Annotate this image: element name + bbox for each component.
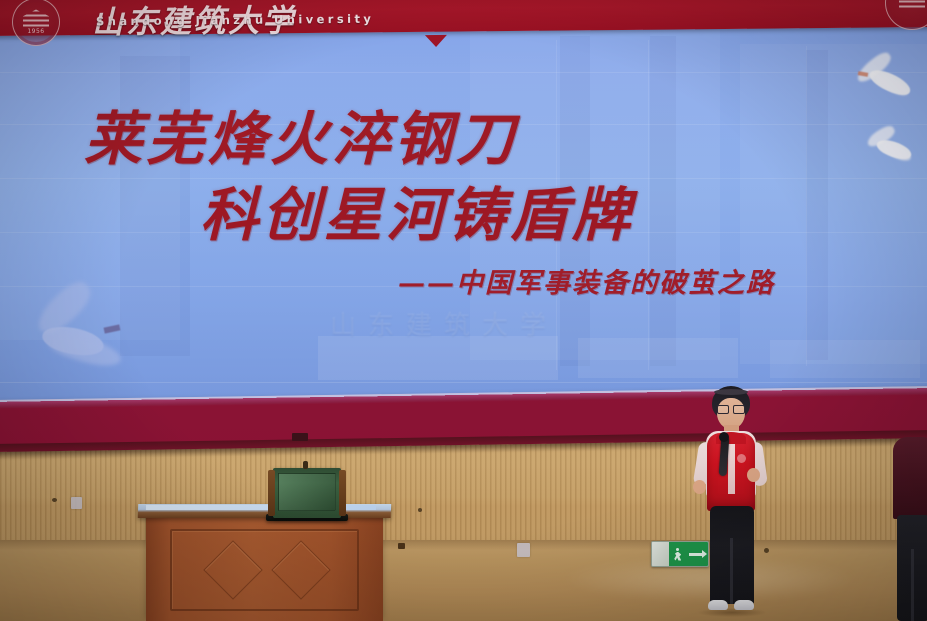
monitor-display [278, 473, 336, 511]
monitor-knob [303, 461, 308, 469]
speaker-right-hand [747, 468, 760, 482]
trouser-seam [730, 538, 733, 604]
fascia-clip [292, 433, 308, 441]
lectern-front-panel [170, 529, 359, 611]
background-building [650, 36, 676, 366]
slide-title-line-2: 科创星河铸盾牌 [200, 168, 634, 252]
microphone-head [719, 432, 729, 442]
university-name-en: Shandong Jianzhu University [96, 12, 374, 29]
bystander-torso [893, 437, 927, 519]
speaker-left-hand [693, 480, 706, 494]
running-person-icon [674, 548, 682, 561]
lecture-stage-photo: 山东建筑大学 莱芜烽火淬钢刀 科创星河铸盾牌 ——中国军事装备的破茧之路 山东建… [0, 0, 927, 621]
dove-beak [104, 324, 121, 333]
speaker-vest-opening [728, 436, 735, 494]
wall-plate [71, 497, 82, 509]
background-building [770, 340, 920, 378]
lectern [146, 513, 383, 621]
dove-icon-top-right [846, 58, 924, 106]
wall-mark [418, 508, 422, 512]
university-seal-left-icon: 1956 [12, 0, 60, 46]
lectern-monitor [273, 468, 341, 518]
background-building [806, 50, 828, 360]
seal-building-motif [899, 0, 925, 15]
vest-logo [737, 454, 746, 463]
monitor-side-bracket [339, 470, 346, 516]
background-building [318, 336, 558, 380]
bystander-person [893, 437, 927, 621]
bystander-leg-seam [911, 549, 914, 621]
dove-icon-lower-left [8, 292, 130, 396]
lectern-diamond-motif [271, 540, 330, 599]
glasses-icon [717, 405, 745, 412]
wall-mark [398, 543, 405, 549]
exit-sign-bracket [652, 542, 669, 566]
speaker-shoe [734, 600, 754, 610]
slide-title-line-1: 莱芜烽火淬钢刀 [84, 92, 518, 176]
facade-line [0, 72, 927, 73]
speaker-hairband [714, 389, 748, 395]
projection-screen: 山东建筑大学 莱芜烽火淬钢刀 科创星河铸盾牌 ——中国军事装备的破茧之路 山东建… [0, 0, 927, 438]
background-building [578, 338, 738, 378]
facade-line [648, 40, 649, 370]
facade-line [806, 46, 807, 366]
speaker-shoe [708, 600, 728, 610]
dove-icon-right-mid [858, 128, 922, 172]
speaker-person [688, 386, 774, 621]
monitor-side-bracket [268, 470, 275, 516]
banner-notch-icon [425, 35, 447, 47]
slide-subtitle: ——中国军事装备的破茧之路 [398, 261, 775, 300]
lectern-diamond-motif [203, 540, 262, 599]
seal-year: 1956 [27, 28, 44, 35]
slide-watermark-text: 山东建筑大学 [330, 305, 558, 342]
facade-line [0, 382, 927, 383]
wall-plate [517, 543, 530, 557]
wall-mark [52, 498, 57, 502]
